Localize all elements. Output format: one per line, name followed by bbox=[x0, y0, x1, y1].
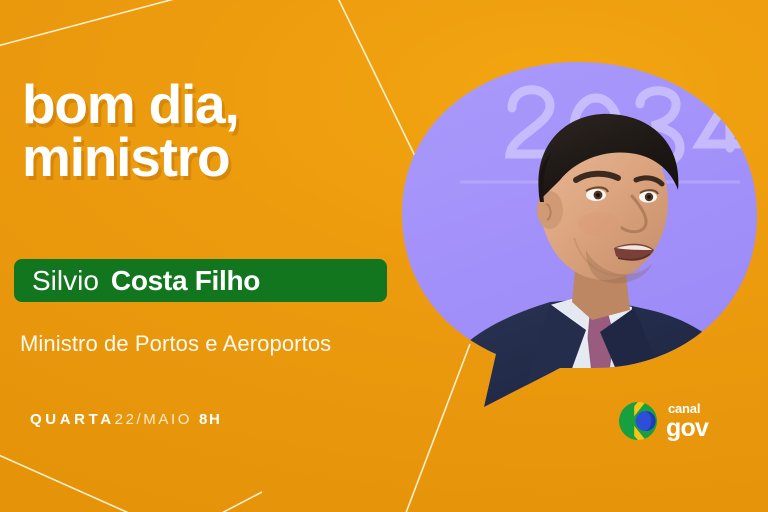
schedule-line: QUARTA 22/MAIO 8H bbox=[30, 411, 221, 428]
schedule-date: 22/MAIO bbox=[115, 411, 192, 428]
headline-line-2: ministro bbox=[22, 131, 422, 184]
portrait-photo bbox=[400, 62, 760, 407]
speech-bubble-portrait bbox=[400, 62, 760, 407]
headline-block: bom dia, ministro bbox=[22, 78, 422, 185]
schedule-time: 8H bbox=[199, 411, 221, 428]
guest-last-name: Costa Filho bbox=[111, 265, 260, 297]
guest-role: Ministro de Portos e Aeroportos bbox=[20, 331, 331, 357]
page-title: bom dia, ministro bbox=[22, 78, 422, 185]
broadcast-announcement-card: bom dia, ministro Silvio Costa Filho Min… bbox=[0, 0, 768, 512]
logo-wordmark: canal gov bbox=[666, 402, 708, 441]
logo-gov-text: gov bbox=[666, 416, 708, 441]
guest-name-bar: Silvio Costa Filho bbox=[14, 259, 387, 302]
canal-gov-logo: canal gov bbox=[617, 398, 737, 444]
canal-gov-mark-icon bbox=[617, 400, 659, 442]
guest-first-name: Silvio bbox=[32, 265, 99, 297]
logo-canal-text: canal bbox=[668, 402, 708, 415]
schedule-weekday: QUARTA bbox=[30, 411, 115, 428]
